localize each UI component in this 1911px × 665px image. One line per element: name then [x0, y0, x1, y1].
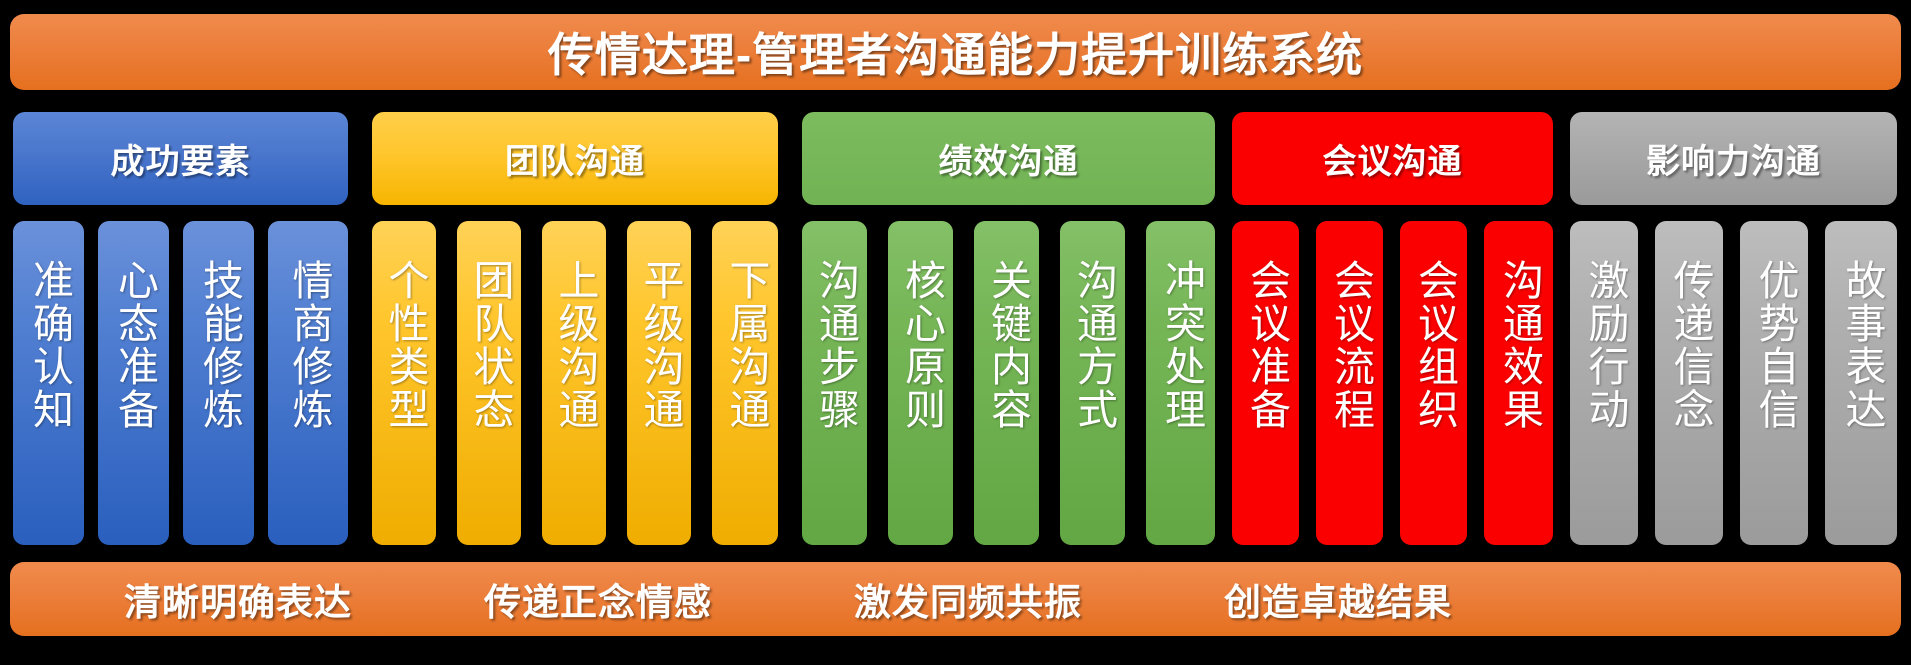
item-card-label: 情商修炼	[285, 259, 331, 431]
footer-item: 传递正念情感	[458, 562, 738, 636]
category-header-label: 团队沟通	[505, 134, 645, 183]
item-card[interactable]: 优势自信	[1740, 221, 1808, 545]
item-card[interactable]: 准确认知	[13, 221, 84, 545]
item-card-label: 下属沟通	[722, 259, 768, 431]
item-card-label: 准确认知	[26, 259, 72, 431]
item-card-label: 上级沟通	[551, 259, 597, 431]
item-card[interactable]: 会议组织	[1400, 221, 1467, 545]
item-card[interactable]: 沟通方式	[1060, 221, 1125, 545]
item-card-label: 沟通步骤	[812, 259, 858, 431]
category-header-influence-communication[interactable]: 影响力沟通	[1570, 112, 1897, 205]
item-card-label: 心态准备	[111, 259, 157, 431]
footer-banner: 清晰明确表达 传递正念情感 激发同频共振 创造卓越结果	[10, 562, 1901, 636]
item-card[interactable]: 传递信念	[1655, 221, 1723, 545]
item-card[interactable]: 关键内容	[974, 221, 1039, 545]
item-card-label: 会议组织	[1411, 259, 1457, 431]
item-card-label: 沟通方式	[1070, 259, 1116, 431]
item-card[interactable]: 核心原则	[888, 221, 953, 545]
category-header-team-communication[interactable]: 团队沟通	[372, 112, 778, 205]
title-banner: 传情达理-管理者沟通能力提升训练系统	[10, 14, 1901, 90]
item-card[interactable]: 下属沟通	[712, 221, 778, 545]
item-card[interactable]: 心态准备	[98, 221, 169, 545]
page-title: 传情达理-管理者沟通能力提升训练系统	[548, 19, 1363, 85]
item-card[interactable]: 技能修炼	[183, 221, 254, 545]
item-card-label: 核心原则	[898, 259, 944, 431]
item-card[interactable]: 团队状态	[457, 221, 521, 545]
item-card-label: 团队状态	[466, 259, 512, 431]
footer-item: 清晰明确表达	[98, 562, 378, 636]
item-card[interactable]: 沟通效果	[1484, 221, 1553, 545]
item-card-label: 优势自信	[1751, 259, 1797, 431]
item-card[interactable]: 激励行动	[1570, 221, 1638, 545]
footer-item: 激发同频共振	[828, 562, 1108, 636]
category-header-success-factors[interactable]: 成功要素	[13, 112, 348, 205]
category-header-performance-communication[interactable]: 绩效沟通	[802, 112, 1215, 205]
item-card-label: 激励行动	[1581, 259, 1627, 431]
item-card[interactable]: 会议流程	[1316, 221, 1383, 545]
item-card-label: 个性类型	[381, 259, 427, 431]
category-header-label: 成功要素	[111, 134, 251, 183]
item-card-label: 传递信念	[1666, 259, 1712, 431]
item-card-label: 冲突处理	[1158, 259, 1204, 431]
item-card[interactable]: 会议准备	[1232, 221, 1299, 545]
item-card[interactable]: 沟通步骤	[802, 221, 867, 545]
item-card-label: 沟通效果	[1496, 259, 1542, 431]
category-header-meeting-communication[interactable]: 会议沟通	[1232, 112, 1553, 205]
item-card-label: 会议流程	[1327, 259, 1373, 431]
item-card[interactable]: 平级沟通	[627, 221, 691, 545]
item-card-label: 关键内容	[984, 259, 1030, 431]
item-card[interactable]: 情商修炼	[268, 221, 348, 545]
category-header-label: 影响力沟通	[1646, 134, 1821, 183]
item-card-label: 会议准备	[1243, 259, 1289, 431]
item-card[interactable]: 冲突处理	[1146, 221, 1215, 545]
item-card[interactable]: 故事表达	[1825, 221, 1897, 545]
item-card-label: 技能修炼	[196, 259, 242, 431]
item-card-label: 平级沟通	[636, 259, 682, 431]
item-card[interactable]: 上级沟通	[542, 221, 606, 545]
item-card-label: 故事表达	[1838, 259, 1884, 431]
category-header-label: 会议沟通	[1323, 134, 1463, 183]
category-header-label: 绩效沟通	[939, 134, 1079, 183]
item-card[interactable]: 个性类型	[372, 221, 436, 545]
footer-item: 创造卓越结果	[1198, 562, 1478, 636]
diagram-canvas: 传情达理-管理者沟通能力提升训练系统 成功要素 团队沟通 绩效沟通 会议沟通 影…	[0, 0, 1911, 665]
